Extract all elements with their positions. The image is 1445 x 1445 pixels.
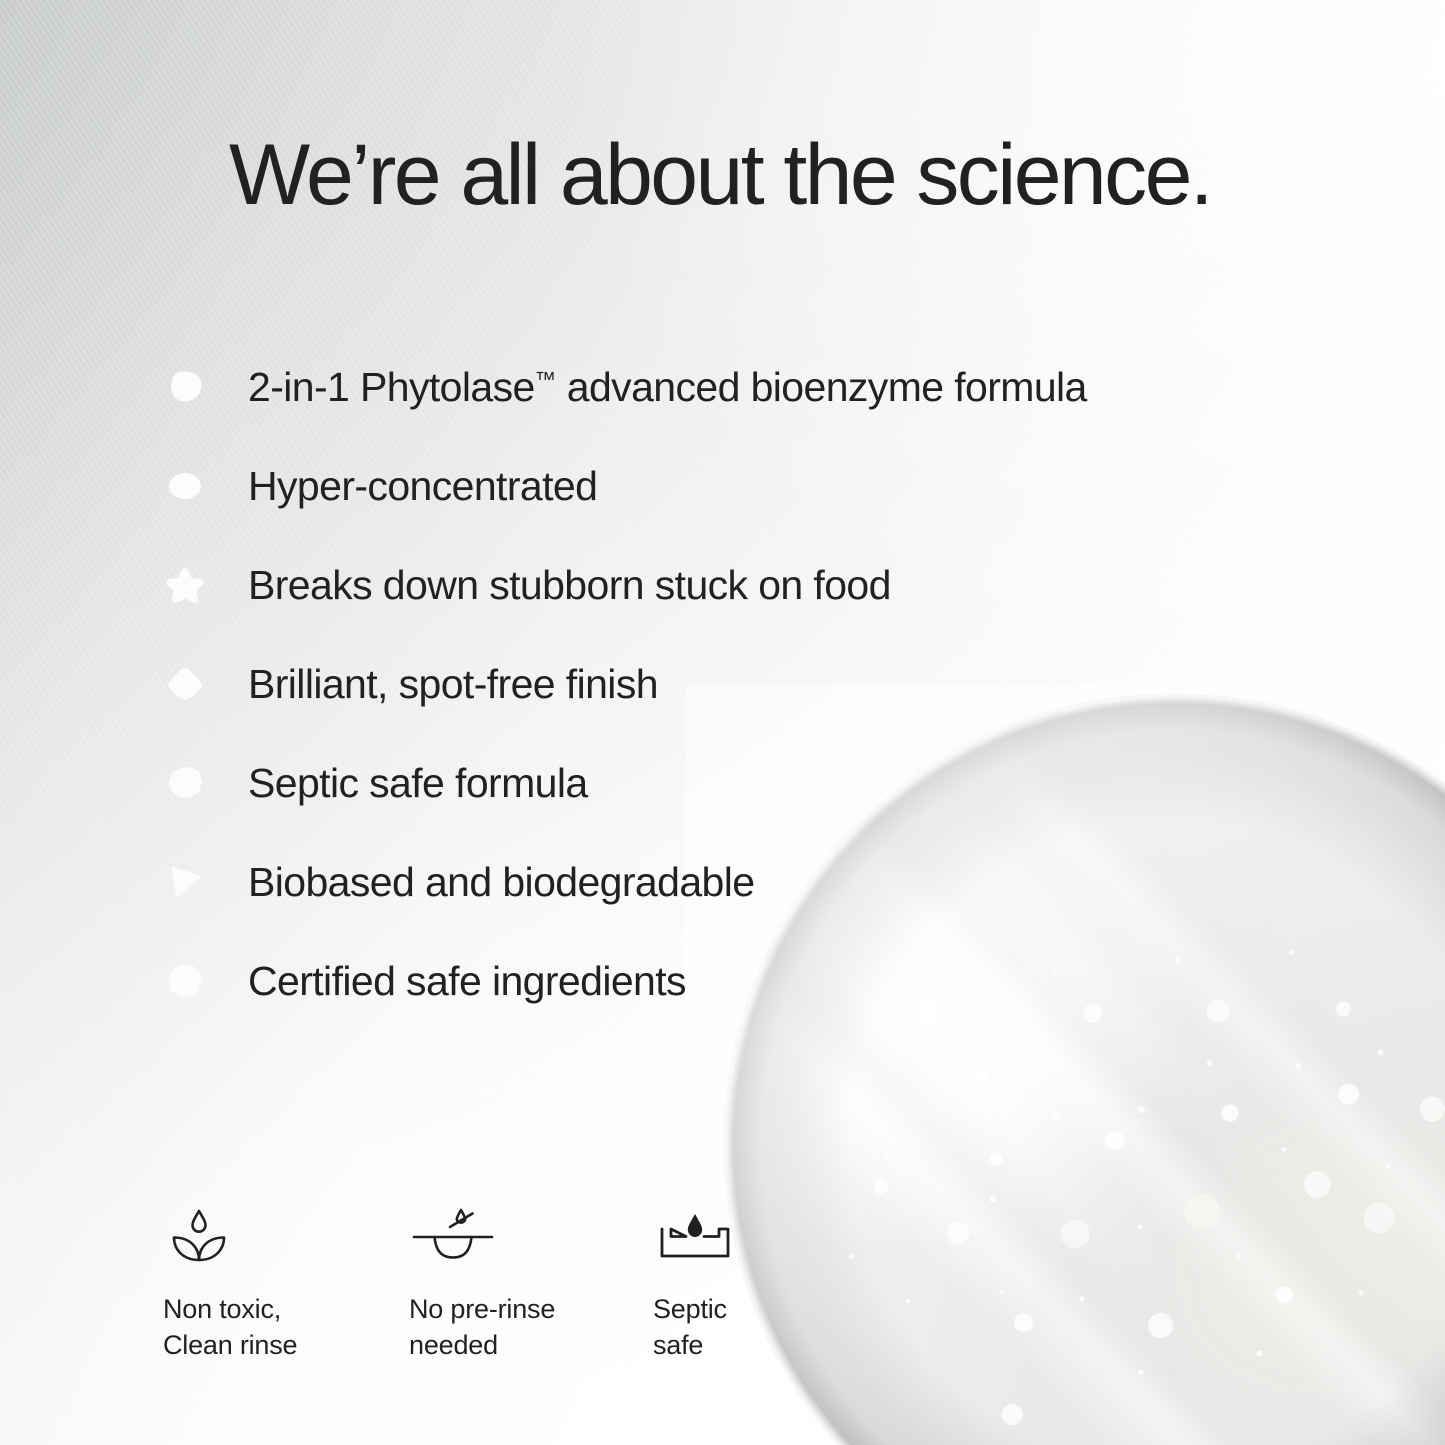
list-item: Hyper-concentrated (163, 437, 1283, 536)
promo-panel: We’re all about the science. 2-in-1 Phyt… (0, 0, 1445, 1445)
list-item: Biobased and biodegradable (163, 833, 1283, 932)
list-item-label: Brilliant, spot-free finish (248, 661, 658, 708)
list-item: Brilliant, spot-free finish (163, 635, 1283, 734)
cloud-blob-bullet-icon (163, 762, 207, 806)
diamond-bullet-icon (163, 663, 207, 707)
list-item-label: 2-in-1 Phytolase™ advanced bioenzyme for… (248, 364, 1087, 411)
list-item: 2-in-1 Phytolase™ advanced bioenzyme for… (163, 338, 1283, 437)
list-item-label: Breaks down stubborn stuck on food (248, 562, 891, 609)
list-item-label: Biobased and biodegradable (248, 859, 754, 906)
star-bullet-icon (163, 564, 207, 608)
list-item-label: Certified safe ingredients (248, 958, 686, 1005)
list-item: Certified safe ingredients (163, 932, 1283, 1031)
ellipse-bullet-icon (163, 465, 207, 509)
rounded-blob-bullet-icon (163, 960, 207, 1004)
badge-label: No pre-rinse needed (409, 1292, 653, 1363)
badge-label: Septic safe (653, 1292, 899, 1363)
septic-pipe-droplet-icon (653, 1200, 899, 1270)
badge-non-toxic: Non toxic, Clean rinse (163, 1200, 409, 1363)
list-item: Breaks down stubborn stuck on food (163, 536, 1283, 635)
list-item: Septic safe formula (163, 734, 1283, 833)
badge-label: Non toxic, Clean rinse (163, 1292, 409, 1363)
feature-list: 2-in-1 Phytolase™ advanced bioenzyme for… (163, 338, 1283, 1031)
list-item-label: Septic safe formula (248, 760, 588, 807)
triangle-bullet-icon (163, 861, 207, 905)
badge-septic-safe: Septic safe (653, 1200, 899, 1363)
list-item-label: Hyper-concentrated (248, 463, 597, 510)
badge-no-pre-rinse: No pre-rinse needed (409, 1200, 653, 1363)
hexagon-blob-bullet-icon (163, 366, 207, 410)
bowl-no-rinse-icon (409, 1200, 653, 1270)
badge-row: Non toxic, Clean rinse No pre-rinse need… (163, 1200, 899, 1363)
page-title: We’re all about the science. (229, 132, 1349, 218)
leaf-droplet-icon (163, 1200, 409, 1270)
